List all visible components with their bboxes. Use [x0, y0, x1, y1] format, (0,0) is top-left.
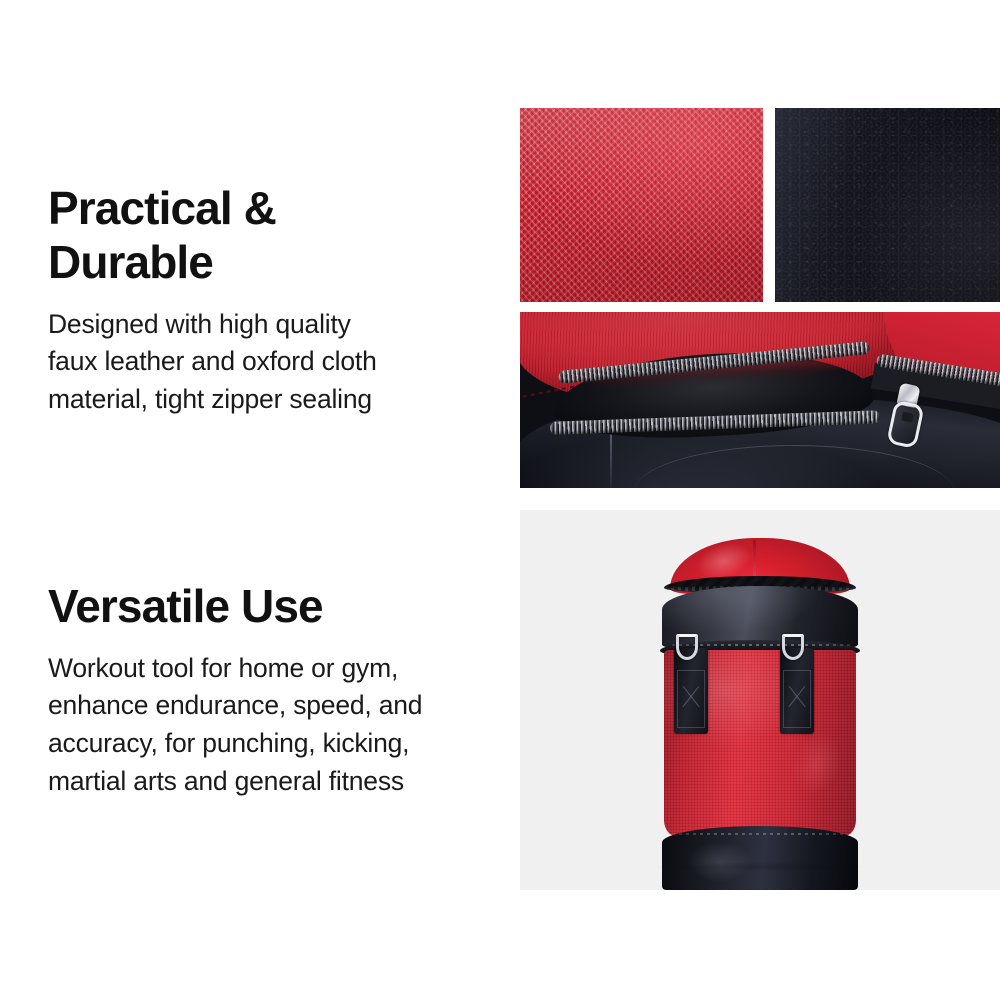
- product-photo-image: [520, 510, 1000, 890]
- feature-block-versatile-use: Versatile Use Workout tool for home or g…: [48, 580, 488, 800]
- bag-body-fold-highlight: [786, 727, 848, 801]
- bag-strap-right: [780, 648, 814, 734]
- d-ring-right-metal: [782, 634, 804, 660]
- fabric-swatch-red-image: [520, 108, 763, 302]
- zipper-detail-image: [520, 312, 1000, 488]
- punching-bag-illustration: [656, 538, 864, 890]
- leather-seam-line: [610, 434, 612, 488]
- bag-strap-right-x-stitch: [784, 674, 810, 718]
- leather-sheen-overlay: [775, 108, 1000, 302]
- bag-strap-left-x-stitch: [678, 674, 704, 718]
- leather-swatch-black-image: [775, 108, 1000, 302]
- bag-ground-shadow: [650, 862, 866, 872]
- zipper-pull-hole: [901, 412, 914, 423]
- bag-band-stitching: [672, 644, 850, 646]
- fabric-shading-overlay: [520, 108, 763, 302]
- d-ring-left-metal: [676, 634, 698, 660]
- bag-strap-left: [674, 648, 708, 734]
- feature-block-practical-durable: Practical & Durable Designed with high q…: [48, 182, 468, 419]
- feature-body: Workout tool for home or gym, enhance en…: [48, 650, 488, 801]
- feature-heading: Practical & Durable: [48, 182, 468, 290]
- d-ring-left-icon: [676, 634, 698, 660]
- feature-body: Designed with high quality faux leather …: [48, 306, 468, 419]
- image-column: [500, 0, 1000, 1000]
- d-ring-right-icon: [782, 634, 804, 660]
- text-column: Practical & Durable Designed with high q…: [0, 0, 500, 1000]
- bag-black-leather-bottom: [662, 826, 858, 890]
- feature-heading: Versatile Use: [48, 580, 488, 634]
- leather-seam-curve: [634, 445, 954, 488]
